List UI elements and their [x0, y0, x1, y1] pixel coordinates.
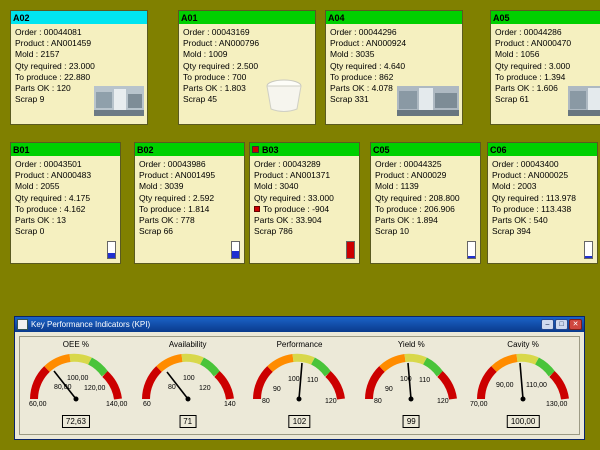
card-line: Mold : 1009 — [183, 49, 311, 60]
card-line: Order : 00044325 — [375, 159, 476, 170]
card-line: Product : AN00029 — [375, 170, 476, 181]
machine-card-header: A04 — [326, 11, 462, 24]
gauge-tick: 120 — [325, 398, 337, 405]
kpi-window[interactable]: Key Performance Indicators (KPI) – □ ✕ O… — [14, 316, 585, 440]
gauge-tick: 120 — [199, 385, 211, 392]
card-line: Qty required : 3.000 — [495, 61, 600, 72]
card-line: Scrap 786 — [254, 226, 355, 237]
gauge-tick: 140 — [224, 401, 236, 407]
card-line: Order : 00043289 — [254, 159, 355, 170]
card-line: Product : AN000025 — [492, 170, 593, 181]
card-line: To produce : 4.162 — [15, 204, 116, 215]
level-indicator — [346, 241, 355, 259]
gauge-tick: 100,00 — [67, 375, 89, 382]
gauge-tick: 100 — [183, 375, 195, 382]
card-line: Product : AN000470 — [495, 38, 600, 49]
level-indicator — [107, 241, 116, 259]
card-line: To produce : 862 — [330, 72, 458, 83]
gauge-tick: 90 — [385, 386, 393, 393]
card-line: To produce : 206.906 — [375, 204, 476, 215]
gauge-tick: 70,00 — [470, 401, 488, 407]
card-line: Product : AN001495 — [139, 170, 240, 181]
card-line: Qty required : 113.978 — [492, 193, 593, 204]
gauge-tick: 110 — [307, 377, 318, 384]
alert-bullet-icon — [254, 206, 260, 212]
card-line: Order : 00044296 — [330, 27, 458, 38]
card-line: Product : AN001371 — [254, 170, 355, 181]
gauge-label: Yield % — [355, 340, 467, 349]
chart-icon — [17, 319, 28, 330]
card-line: Qty required : 4.175 — [15, 193, 116, 204]
card-line: Mold : 1139 — [375, 181, 476, 192]
gauge-dial: 80,00 100,00 120,00 60,00 140,00 — [24, 349, 128, 407]
card-line: To produce : 22.880 — [15, 72, 143, 83]
machine-card-body: Order : 00043986 Product : AN001495 Mold… — [135, 156, 244, 237]
machine-id: A02 — [13, 13, 30, 23]
gauge-tick: 130,00 — [546, 401, 568, 407]
card-line: To produce : 1.394 — [495, 72, 600, 83]
machine-card-header: A05 — [491, 11, 600, 24]
card-line: Order : 00044286 — [495, 27, 600, 38]
machine-card-header: B03 — [250, 143, 359, 156]
machine-card-header: C05 — [371, 143, 480, 156]
card-line: Scrap 0 — [15, 226, 116, 237]
gauge-tick: 80 — [374, 398, 382, 405]
card-line: Parts OK : 540 — [492, 215, 593, 226]
gauge-value: 102 — [289, 415, 310, 428]
gauge-oee: OEE % 80,00 100,00 120,00 60,00 140,00 7… — [20, 337, 132, 434]
machine-card-body: Order : 00043400 Product : AN000025 Mold… — [488, 156, 597, 237]
injection-machine-photo-icon — [94, 86, 144, 121]
gauge-tick: 100 — [400, 376, 412, 383]
gauge-tick: 120,00 — [84, 385, 106, 392]
gauge-label: Availability — [132, 340, 244, 349]
machine-id: A04 — [328, 13, 345, 23]
gauge-value: 71 — [179, 415, 196, 428]
card-line: Order : 00043169 — [183, 27, 311, 38]
gauge-dial: 90 100 110 80 120 — [359, 349, 463, 407]
card-line: Qty required : 208.800 — [375, 193, 476, 204]
card-line: Order : 00043400 — [492, 159, 593, 170]
kpi-gauges: OEE % 80,00 100,00 120,00 60,00 140,00 7… — [20, 337, 579, 434]
gauge-tick: 80 — [168, 384, 176, 391]
card-line: Scrap 66 — [139, 226, 240, 237]
gauge-tick: 110,00 — [526, 382, 547, 389]
kpi-title-bar[interactable]: Key Performance Indicators (KPI) – □ ✕ — [15, 317, 584, 332]
machine-card[interactable]: A01 Order : 00043169 Product : AN000796 … — [178, 10, 316, 125]
machine-id: C06 — [490, 145, 507, 155]
gauge-dial: 90 100 110 80 120 — [247, 349, 351, 407]
card-line-text: To produce : -904 — [263, 204, 329, 215]
machine-id: B03 — [262, 145, 279, 155]
card-line: Mold : 3039 — [139, 181, 240, 192]
card-line-alert: To produce : -904 — [254, 204, 355, 215]
card-line: To produce : 1.814 — [139, 204, 240, 215]
card-line: Mold : 3040 — [254, 181, 355, 192]
card-line: Parts OK : 1.894 — [375, 215, 476, 226]
gauge-value: 99 — [403, 415, 420, 428]
machine-card[interactable]: B03 Order : 00043289 Product : AN001371 … — [249, 142, 360, 264]
minimize-button[interactable]: – — [541, 319, 554, 330]
gauge-tick: 60 — [143, 401, 151, 407]
gauge-performance: Performance 90 100 110 80 120 102 — [244, 337, 356, 434]
gauge-availability: Availability 80 100 120 60 140 71 — [132, 337, 244, 434]
card-line: Mold : 1056 — [495, 49, 600, 60]
gauge-tick: 120 — [437, 398, 449, 405]
gauge-label: Performance — [244, 340, 356, 349]
machine-card[interactable]: A04 Order : 00044296 Product : AN000924 … — [325, 10, 463, 125]
bucket-product-photo-icon — [261, 77, 307, 118]
gauge-dial: 80 100 120 60 140 — [136, 349, 240, 407]
card-line: Parts OK : 13 — [15, 215, 116, 226]
alarm-square-icon — [252, 146, 259, 153]
card-line: Order : 00043501 — [15, 159, 116, 170]
injection-machine-photo-icon — [568, 86, 600, 121]
machine-card[interactable]: A05 Order : 00044286 Product : AN000470 … — [490, 10, 600, 125]
gauge-cavity: Cavity % 90,00 110,00 70,00 130,00 100,0… — [467, 337, 579, 434]
card-line: Parts OK : 33.904 — [254, 215, 355, 226]
machine-card-body: Order : 00044325 Product : AN00029 Mold … — [371, 156, 480, 237]
machine-id: A01 — [181, 13, 198, 23]
level-indicator — [467, 241, 476, 259]
card-line: Order : 00043986 — [139, 159, 240, 170]
card-line: Product : AN001459 — [15, 38, 143, 49]
kpi-window-title: Key Performance Indicators (KPI) — [31, 320, 540, 329]
machine-id: C05 — [373, 145, 390, 155]
card-line: Qty required : 2.500 — [183, 61, 311, 72]
gauge-tick: 140,00 — [106, 401, 128, 407]
card-line: Product : AN000483 — [15, 170, 116, 181]
card-line: Product : AN000796 — [183, 38, 311, 49]
machine-card-header: B01 — [11, 143, 120, 156]
kpi-gauge-panel: OEE % 80,00 100,00 120,00 60,00 140,00 7… — [19, 336, 580, 435]
gauge-tick: 80,00 — [54, 384, 72, 391]
gauge-value: 100,00 — [507, 415, 539, 428]
machine-card[interactable]: A02 Order : 00044081 Product : AN001459 … — [10, 10, 148, 125]
card-line: Scrap 394 — [492, 226, 593, 237]
machine-card-header: B02 — [135, 143, 244, 156]
card-line: Qty required : 4.640 — [330, 61, 458, 72]
machine-card-body: Order : 00043289 Product : AN001371 Mold… — [250, 156, 359, 237]
close-button[interactable]: ✕ — [569, 319, 582, 330]
gauge-tick: 80 — [262, 398, 270, 405]
machine-card-body: Order : 00043501 Product : AN000483 Mold… — [11, 156, 120, 237]
gauge-value: 72,63 — [62, 415, 90, 428]
machine-id: A05 — [493, 13, 510, 23]
gauge-tick: 90,00 — [496, 382, 514, 389]
card-line: Qty required : 2.592 — [139, 193, 240, 204]
gauge-label: OEE % — [20, 340, 132, 349]
machine-card[interactable]: C05 Order : 00044325 Product : AN00029 M… — [370, 142, 481, 264]
machine-card-header: C06 — [488, 143, 597, 156]
card-line: Product : AN000924 — [330, 38, 458, 49]
machine-card[interactable]: B01 Order : 00043501 Product : AN000483 … — [10, 142, 121, 264]
gauge-dial: 90,00 110,00 70,00 130,00 — [468, 349, 578, 407]
card-line: Mold : 2157 — [15, 49, 143, 60]
machine-card-header: A01 — [179, 11, 315, 24]
injection-machine-photo-icon — [397, 86, 459, 121]
machine-id: B01 — [13, 145, 30, 155]
card-line: Order : 00044081 — [15, 27, 143, 38]
card-line: Scrap 10 — [375, 226, 476, 237]
machine-card-header: A02 — [11, 11, 147, 24]
machine-id: B02 — [137, 145, 154, 155]
gauge-tick: 90 — [273, 386, 281, 393]
gauge-tick: 110 — [419, 377, 430, 384]
machine-card[interactable]: C06 Order : 00043400 Product : AN000025 … — [487, 142, 598, 264]
card-line: Parts OK : 778 — [139, 215, 240, 226]
card-line: To produce : 113.438 — [492, 204, 593, 215]
card-line: Mold : 3035 — [330, 49, 458, 60]
machine-card[interactable]: B02 Order : 00043986 Product : AN001495 … — [134, 142, 245, 264]
gauge-tick: 100 — [288, 376, 300, 383]
maximize-button[interactable]: □ — [555, 319, 568, 330]
card-line: Mold : 2003 — [492, 181, 593, 192]
card-line: Mold : 2055 — [15, 181, 116, 192]
card-line: Qty required : 23.000 — [15, 61, 143, 72]
level-indicator — [231, 241, 240, 259]
card-line: Qty required : 33.000 — [254, 193, 355, 204]
gauge-tick: 60,00 — [29, 401, 47, 407]
gauge-yield: Yield % 90 100 110 80 120 99 — [355, 337, 467, 434]
gauge-label: Cavity % — [467, 340, 579, 349]
level-indicator — [584, 241, 593, 259]
